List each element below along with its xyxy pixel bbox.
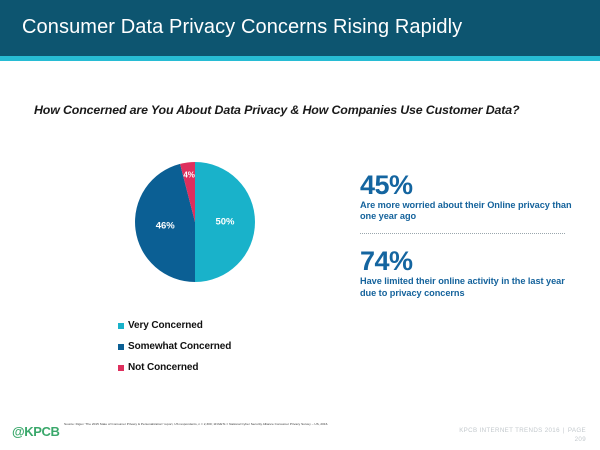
legend-swatch-icon xyxy=(118,365,124,371)
slide-header: Consumer Data Privacy Concerns Rising Ra… xyxy=(0,0,600,56)
pie-slice-label: 50% xyxy=(215,217,235,228)
kpcb-logo: @KPCB xyxy=(12,424,60,439)
pie-slice-label: 4% xyxy=(183,171,195,180)
chart-subtitle: How Concerned are You About Data Privacy… xyxy=(34,103,519,117)
stats-divider xyxy=(360,233,565,235)
pie-slices xyxy=(135,162,255,282)
footer-page-label: PAGE xyxy=(568,427,586,434)
stat-block-74: 74% Have limited their online activity i… xyxy=(360,248,575,298)
legend-swatch-icon xyxy=(118,323,124,329)
legend-item[interactable]: Somewhat Concerned xyxy=(118,336,318,357)
pie-chart-svg: 50%46%4% xyxy=(135,162,255,282)
stats-panel: 45% Are more worried about their Online … xyxy=(360,172,575,299)
pie-legend: Very ConcernedSomewhat ConcernedNot Conc… xyxy=(118,315,318,378)
legend-label: Somewhat Concerned xyxy=(128,341,231,352)
page-title: Consumer Data Privacy Concerns Rising Ra… xyxy=(22,16,462,39)
legend-item[interactable]: Very Concerned xyxy=(118,315,318,336)
legend-label: Not Concerned xyxy=(128,362,198,373)
pie-chart: 50%46%4% xyxy=(135,162,255,282)
stat-block-45: 45% Are more worried about their Online … xyxy=(360,172,575,222)
footer-deck-title: KPCB INTERNET TRENDS 2016 xyxy=(459,427,560,434)
footer-page-number: 209 xyxy=(575,436,586,443)
header-accent-bar xyxy=(0,56,600,61)
legend-label: Very Concerned xyxy=(128,320,203,331)
stat-value: 45% xyxy=(360,172,575,199)
legend-swatch-icon xyxy=(118,344,124,350)
footer-meta: KPCB INTERNET TRENDS 2016|PAGE 209 xyxy=(396,426,586,445)
legend-item[interactable]: Not Concerned xyxy=(118,357,318,378)
stat-description: Are more worried about their Online priv… xyxy=(360,200,575,222)
pie-slice-label: 46% xyxy=(156,220,176,231)
footer-separator: | xyxy=(560,427,568,434)
stat-value: 74% xyxy=(360,248,575,275)
stat-description: Have limited their online activity in th… xyxy=(360,276,575,298)
